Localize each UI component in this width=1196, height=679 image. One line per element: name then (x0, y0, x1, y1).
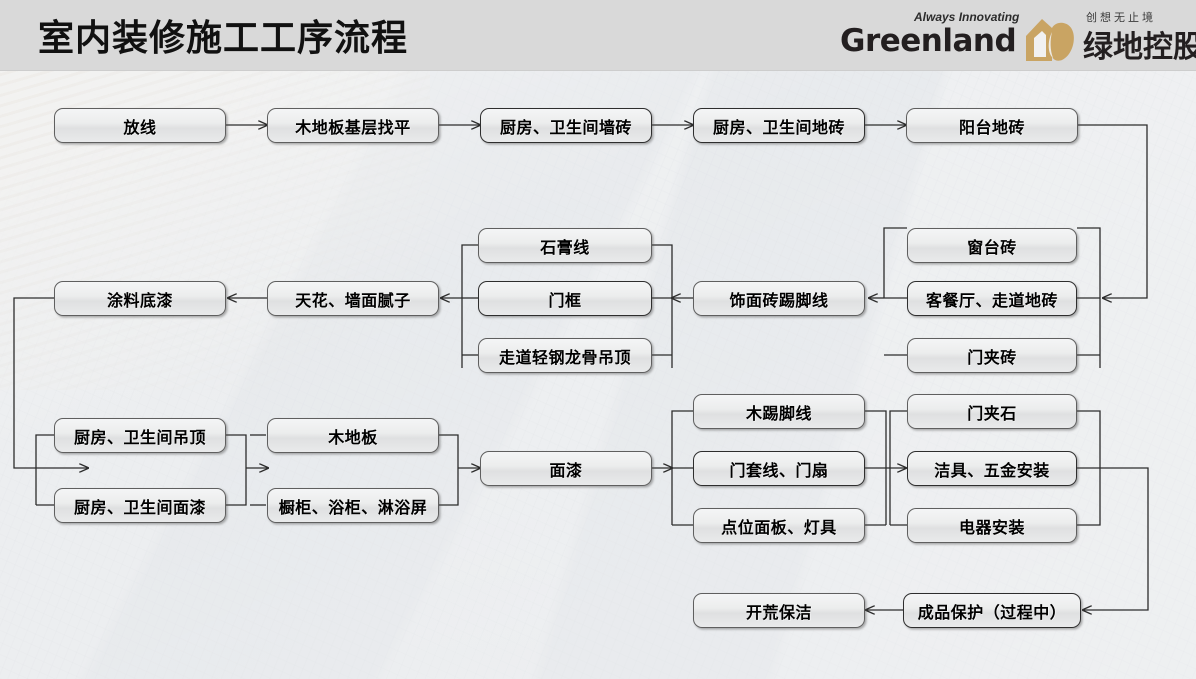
node-chufang-weishengjian-mianqi[interactable]: 厨房、卫生间面漆 (54, 488, 226, 523)
node-label: 面漆 (549, 457, 582, 481)
node-tianhua-qiangmian-nizi[interactable]: 天花、墙面腻子 (267, 281, 439, 316)
node-label: 厨房、卫生间地砖 (713, 114, 845, 138)
node-label: 门套线、门扇 (729, 457, 828, 481)
node-label: 门框 (548, 287, 581, 311)
node-shigaoxian[interactable]: 石膏线 (478, 228, 652, 263)
node-menjia-zhuan[interactable]: 门夹砖 (907, 338, 1077, 373)
node-yangtai-dizhuan[interactable]: 阳台地砖 (906, 108, 1078, 143)
node-label: 门夹砖 (967, 344, 1017, 368)
node-label: 成品保护（过程中） (918, 599, 1067, 623)
node-ketingcanting-zoudao-dizhuan[interactable]: 客餐厅、走道地砖 (907, 281, 1077, 316)
node-label: 天花、墙面腻子 (295, 287, 411, 311)
node-chufang-weishengjian-diaoding[interactable]: 厨房、卫生间吊顶 (54, 418, 226, 453)
node-dianwei-mianban-dengju[interactable]: 点位面板、灯具 (693, 508, 865, 543)
node-label: 走道轻钢龙骨吊顶 (499, 344, 631, 368)
node-label: 洁具、五金安装 (934, 457, 1050, 481)
logo-brand-en: Greenland (840, 23, 1016, 59)
node-mudiban[interactable]: 木地板 (267, 418, 439, 453)
node-label: 石膏线 (540, 234, 590, 258)
node-label: 涂料底漆 (107, 287, 173, 311)
node-mu-tijiaoxian[interactable]: 木踢脚线 (693, 394, 865, 429)
node-label: 木地板 (328, 424, 378, 448)
node-label: 客餐厅、走道地砖 (926, 287, 1058, 311)
node-chufang-weishengjian-dizhuan[interactable]: 厨房、卫生间地砖 (693, 108, 865, 143)
node-label: 阳台地砖 (959, 114, 1025, 138)
node-fangxian[interactable]: 放线 (54, 108, 226, 143)
node-dianqi-anzhuang[interactable]: 电器安装 (907, 508, 1077, 543)
node-label: 放线 (123, 114, 156, 138)
flowchart-canvas: 放线 木地板基层找平 厨房、卫生间墙砖 厨房、卫生间地砖 阳台地砖 窗台砖 客餐… (0, 70, 1196, 679)
node-label: 开荒保洁 (746, 599, 812, 623)
node-jieju-wujin-anzhuang[interactable]: 洁具、五金安装 (907, 451, 1077, 486)
node-chugui-yugui-linyuping[interactable]: 橱柜、浴柜、淋浴屏 (267, 488, 439, 523)
house-icon (1022, 16, 1078, 64)
node-kaihuang-baojie[interactable]: 开荒保洁 (693, 593, 865, 628)
node-mudiban-jiceng[interactable]: 木地板基层找平 (267, 108, 439, 143)
node-menjia-shi[interactable]: 门夹石 (907, 394, 1077, 429)
node-label: 厨房、卫生间面漆 (74, 494, 206, 518)
node-label: 橱柜、浴柜、淋浴屏 (279, 494, 428, 518)
node-chengpin-baohu[interactable]: 成品保护（过程中） (903, 593, 1081, 628)
node-label: 木地板基层找平 (295, 114, 411, 138)
node-zoudao-qinggang-longgu-diaoding[interactable]: 走道轻钢龙骨吊顶 (478, 338, 652, 373)
node-label: 木踢脚线 (746, 400, 812, 424)
logo-slogan-en: Always Innovating (914, 10, 1019, 24)
logo-brand-cn: 绿地控股 (1083, 22, 1196, 66)
node-label: 电器安装 (959, 514, 1025, 538)
flow-connectors (0, 70, 1196, 679)
node-label: 门夹石 (967, 400, 1017, 424)
node-mentaoxian-menshan[interactable]: 门套线、门扇 (693, 451, 865, 486)
node-chufang-weishengjian-qiangzhuan[interactable]: 厨房、卫生间墙砖 (480, 108, 652, 143)
node-shimianzhuan-tijiaoxian[interactable]: 饰面砖踢脚线 (693, 281, 865, 316)
node-tuliao-diqi[interactable]: 涂料底漆 (54, 281, 226, 316)
node-label: 饰面砖踢脚线 (729, 287, 828, 311)
greenland-logo: Always Innovating Greenland 创想无止境 绿地控股 (840, 6, 1180, 64)
slide-root: 室内装修施工工序流程 Always Innovating Greenland 创… (0, 0, 1196, 679)
node-label: 厨房、卫生间吊顶 (74, 424, 206, 448)
node-label: 点位面板、灯具 (721, 514, 837, 538)
node-label: 厨房、卫生间墙砖 (500, 114, 632, 138)
slide-header: 室内装修施工工序流程 Always Innovating Greenland 创… (0, 0, 1196, 71)
node-label: 窗台砖 (967, 234, 1017, 258)
page-title: 室内装修施工工序流程 (38, 9, 408, 61)
node-mianqi[interactable]: 面漆 (480, 451, 652, 486)
node-menkuang[interactable]: 门框 (478, 281, 652, 316)
node-chuangtai-zhuan[interactable]: 窗台砖 (907, 228, 1077, 263)
